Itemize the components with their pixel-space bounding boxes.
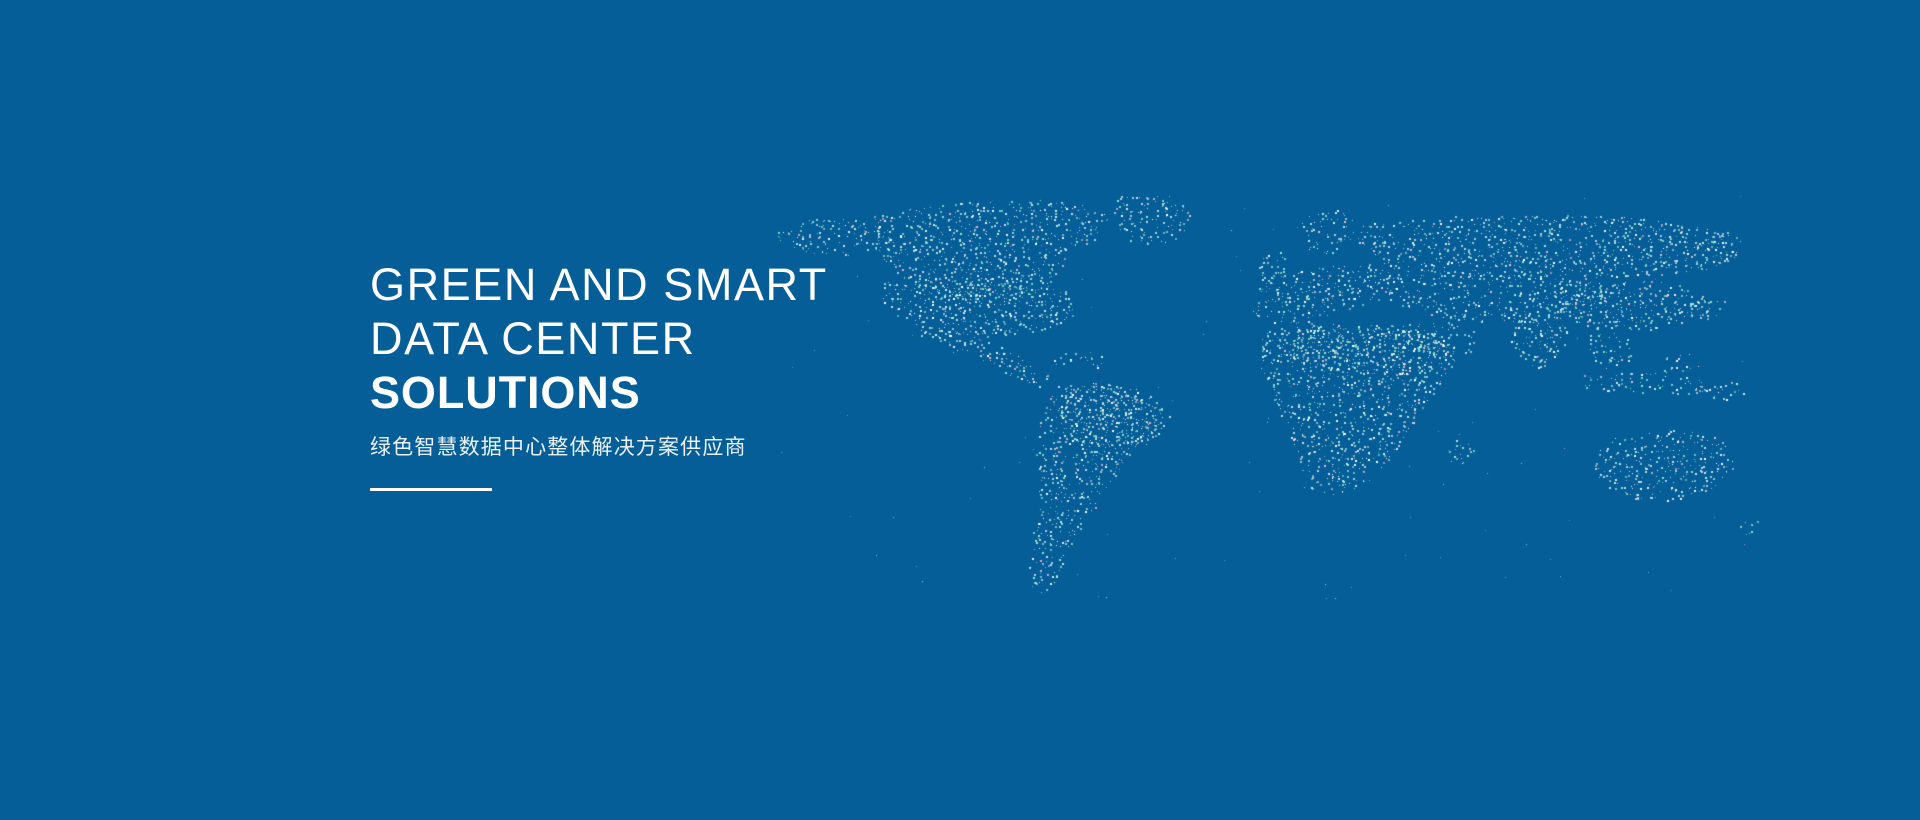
hero-text-block: GREEN AND SMART DATA CENTER SOLUTIONS 绿色… [370,262,990,491]
hero-subtitle: 绿色智慧数据中心整体解决方案供应商 [370,435,990,460]
hero-banner: GREEN AND SMART DATA CENTER SOLUTIONS 绿色… [0,0,1920,820]
headline-line-2: DATA CENTER [370,316,990,361]
headline-line-3: SOLUTIONS [370,370,990,415]
headline-line-1: GREEN AND SMART [370,262,990,307]
accent-rule-divider [370,488,492,491]
